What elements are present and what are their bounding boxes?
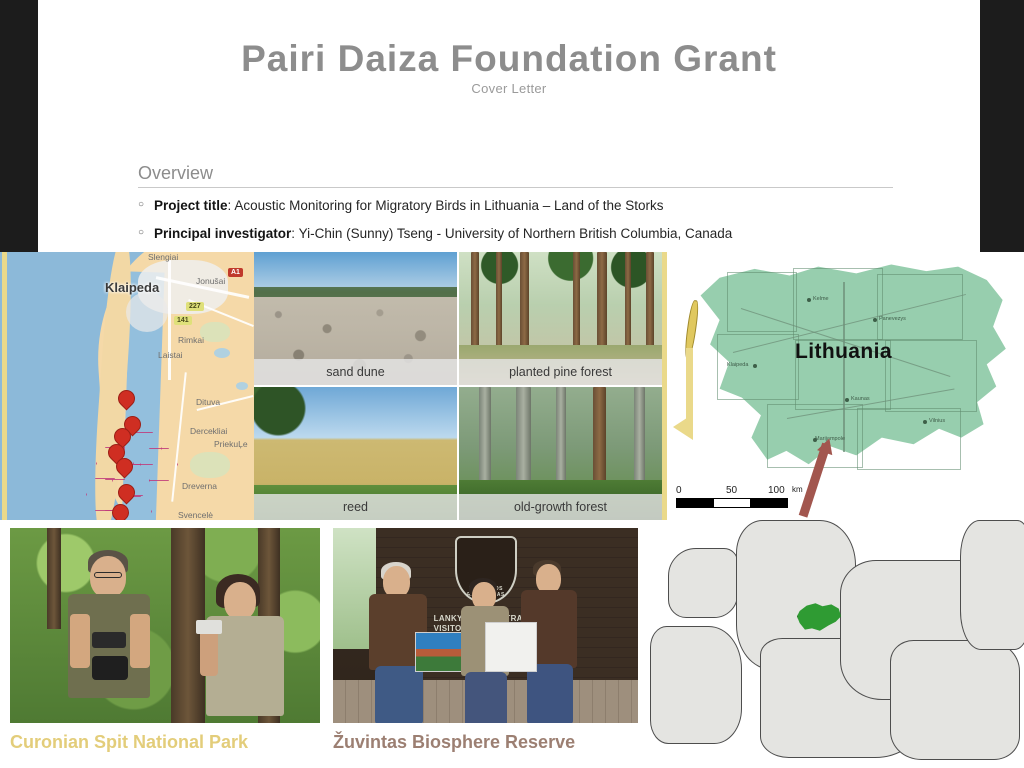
city-label: Panevezys [879, 316, 906, 322]
head [224, 582, 256, 620]
site-photo-curonian-spit [10, 528, 320, 723]
eu-landmass [960, 520, 1024, 650]
overview-divider [138, 187, 893, 188]
right-dark-margin [980, 0, 1024, 252]
overview-heading: Overview [138, 163, 893, 187]
country-label: Lithuania [795, 340, 892, 364]
habitat-caption: old-growth forest [459, 494, 662, 520]
page-title: Pairi Daiza Foundation Grant [38, 38, 980, 80]
page-subtitle: Cover Letter [38, 81, 980, 96]
site-caption-zuvintas: Žuvintas Biosphere Reserve [333, 732, 638, 753]
bullet-marker-icon: ○ [138, 197, 154, 213]
map-place-label: Laistai [158, 350, 183, 360]
map-green-area [190, 452, 230, 478]
habitat-caption: sand dune [254, 359, 457, 385]
habitat-old-growth-forest-photo: old-growth forest [459, 387, 662, 520]
road-shield-227: 227 [186, 302, 204, 311]
city-dot [845, 398, 849, 402]
arm [130, 614, 150, 668]
left-dark-margin [0, 0, 38, 252]
bullet-separator: : [228, 198, 232, 213]
lithuania-map: Kelme Panevezys Kaunas Vilnius Klaipeda … [667, 252, 1024, 520]
tree-trunk [47, 528, 61, 629]
map-left-accent [2, 252, 7, 520]
slide-canvas: Pairi Daiza Foundation Grant Cover Lette… [0, 0, 1024, 768]
scale-unit: km [792, 485, 803, 494]
site-card-curonian-spit: Curonian Spit National Park [10, 528, 320, 753]
foreground-foliage [254, 387, 351, 448]
city-label: Vilnius [929, 418, 945, 424]
glasses-icon [94, 572, 122, 578]
scale-tick-100: 100 [768, 485, 785, 496]
arm [70, 614, 90, 668]
habitat-photo-grid: sand dune planted pine forest reed [254, 252, 662, 520]
county-boundary [885, 340, 977, 412]
map-place-label: Dituva [196, 397, 220, 407]
europe-locator-map [640, 520, 1024, 768]
jeans [527, 664, 573, 723]
road-shield-a1: A1 [228, 268, 243, 277]
bullet-separator: : [291, 226, 295, 241]
callout-arrow-stem [686, 348, 693, 420]
handed-poster [485, 622, 537, 672]
dune-treeline [254, 287, 457, 298]
binoculars [92, 656, 128, 680]
klaipeda-street-map: Klaipeda Slengiai Jonušai Rimkai Laistai… [0, 252, 254, 520]
city-dot [873, 318, 877, 322]
site-card-zuvintas: BIOSFEROS REZERVATAS LANKYTOJŲ CENTRAS V… [333, 528, 638, 753]
habitat-reed-photo: reed [254, 387, 457, 520]
habitat-planted-pine-forest-photo: planted pine forest [459, 252, 662, 385]
notebook [196, 620, 222, 634]
map-place-label: Slengiai [148, 252, 178, 262]
habitat-caption: planted pine forest [459, 359, 662, 385]
scale-segment [750, 499, 787, 507]
habitat-caption: reed [254, 494, 457, 520]
city-label: Klaipeda [727, 362, 748, 368]
map-scale-bar: 0 50 100 km [676, 485, 794, 508]
bullet-value: Acoustic Monitoring for Migratory Birds … [234, 198, 663, 213]
site-photo-zuvintas: BIOSFEROS REZERVATAS LANKYTOJŲ CENTRAS V… [333, 528, 638, 723]
highway-line [843, 282, 845, 452]
scale-segment [677, 499, 714, 507]
header-page: Pairi Daiza Foundation Grant Cover Lette… [38, 0, 980, 252]
map-city-label: Klaipeda [105, 280, 159, 295]
callout-arrow-left-icon [673, 414, 693, 440]
map-urban-area-2 [126, 292, 168, 332]
scale-tick-0: 0 [676, 485, 682, 496]
bullet-marker-icon: ○ [138, 225, 154, 241]
handheld-recorder [92, 632, 126, 648]
map-green-area [200, 322, 230, 342]
habitat-sand-dune-photo: sand dune [254, 252, 457, 385]
city-dot [923, 420, 927, 424]
eu-landmass [890, 640, 1020, 760]
city-label: Kelme [813, 296, 829, 302]
map-place-label: Svencelė [178, 510, 213, 520]
tree-trunk [593, 387, 606, 493]
city-dot [753, 364, 757, 368]
jeans [375, 666, 423, 723]
bullet-project-title: ○ Project title: Acoustic Monitoring for… [138, 197, 893, 215]
county-boundary [857, 408, 961, 470]
map-place-label: Dreverna [182, 481, 217, 491]
scale-tick-50: 50 [726, 485, 737, 496]
map-lake [236, 382, 248, 390]
map-lake [214, 348, 230, 358]
arm [200, 628, 218, 676]
site-caption-curonian-spit: Curonian Spit National Park [10, 732, 320, 753]
map-place-label: Rimkai [178, 335, 204, 345]
county-boundary [877, 274, 963, 340]
map-road [168, 260, 171, 380]
middle-band: Klaipeda Slengiai Jonušai Rimkai Laistai… [0, 252, 1024, 520]
bullet-principal-investigator: ○ Principal investigator: Yi-Chin (Sunny… [138, 225, 893, 243]
bottom-band: Curonian Spit National Park BIOSFEROS RE… [0, 520, 1024, 768]
jeans [465, 672, 507, 723]
eu-landmass [650, 626, 742, 744]
scale-segment [714, 499, 751, 507]
map-place-label: Jonušai [196, 276, 225, 286]
bullet-label: Principal investigator [154, 226, 291, 241]
map-place-label: PriekuĻe [214, 439, 248, 449]
scale-bar-graphic [676, 498, 788, 508]
bullet-label: Project title [154, 198, 228, 213]
map-place-label: Dercekliai [190, 426, 227, 436]
eu-landmass [668, 548, 738, 618]
header-band: Pairi Daiza Foundation Grant Cover Lette… [0, 0, 1024, 252]
overview-section: Overview ○ Project title: Acoustic Monit… [138, 163, 893, 253]
city-dot [807, 298, 811, 302]
pine-canopy [459, 252, 662, 297]
road-shield-141: 141 [174, 316, 192, 325]
tree-trunk [556, 387, 566, 491]
city-label: Kaunas [851, 396, 870, 402]
bullet-value: Yi-Chin (Sunny) Tseng - University of No… [299, 226, 733, 241]
